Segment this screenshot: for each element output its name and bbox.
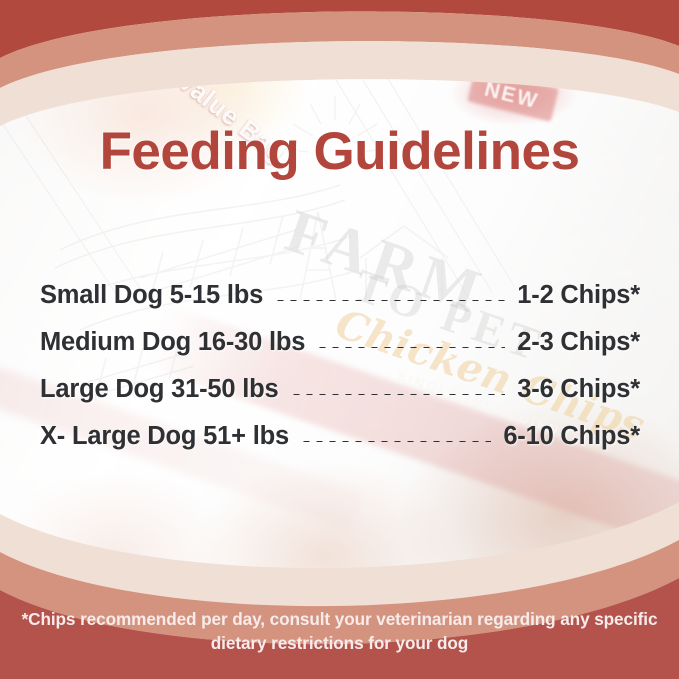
row-dot-leader	[319, 347, 505, 348]
poster-content: Feeding Guidelines Small Dog 5-15 lbs 1-…	[0, 0, 679, 679]
row-value: 6-10 Chips*	[503, 422, 640, 451]
row-value: 1-2 Chips*	[517, 281, 640, 310]
row-dot-leader	[293, 394, 506, 395]
row-label: Medium Dog 16-30 lbs	[40, 328, 305, 357]
footer-band: *Chips recommended per day, consult your…	[0, 593, 679, 679]
row-value: 3-6 Chips*	[517, 375, 640, 404]
table-row: Medium Dog 16-30 lbs 2-3 Chips*	[40, 328, 640, 375]
feeding-guidelines-table: Small Dog 5-15 lbs 1-2 Chips* Medium Dog…	[40, 281, 640, 469]
row-dot-leader	[277, 300, 505, 301]
table-row: X- Large Dog 51+ lbs 6-10 Chips*	[40, 422, 640, 469]
row-dot-leader	[303, 441, 491, 442]
table-row: Large Dog 31-50 lbs 3-6 Chips*	[40, 375, 640, 422]
row-label: Small Dog 5-15 lbs	[40, 281, 263, 310]
feeding-guidelines-poster: NEW Value Bag NEW FARM TO PET Chicken Ch…	[0, 0, 679, 679]
row-label: X- Large Dog 51+ lbs	[40, 422, 289, 451]
row-label: Large Dog 31-50 lbs	[40, 375, 279, 404]
row-value: 2-3 Chips*	[517, 328, 640, 357]
footer-disclaimer: *Chips recommended per day, consult your…	[20, 593, 660, 656]
page-title: Feeding Guidelines	[0, 121, 679, 182]
table-row: Small Dog 5-15 lbs 1-2 Chips*	[40, 281, 640, 328]
